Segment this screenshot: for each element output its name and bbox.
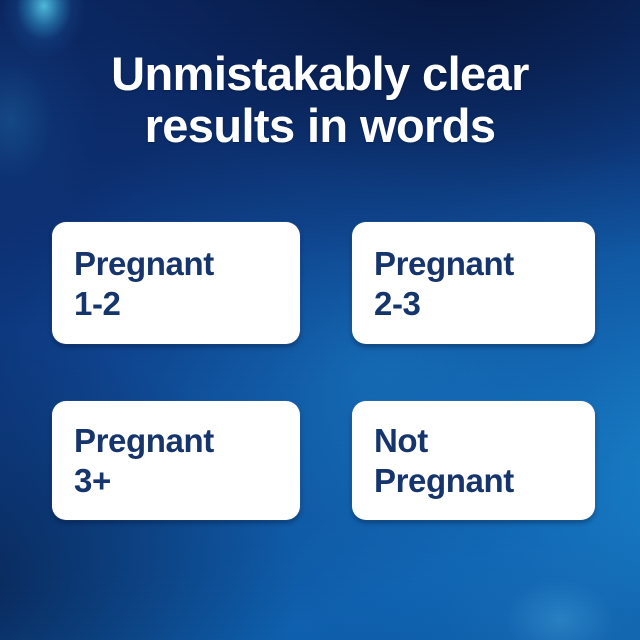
result-card-line-1: Pregnant (74, 421, 278, 460)
result-card-line-2: Pregnant (374, 461, 573, 500)
page-title: Unmistakably clear results in words (0, 48, 640, 152)
result-card-grid: Pregnant 1-2 Pregnant 2-3 Pregnant 3+ No… (52, 222, 595, 520)
result-card-pregnant-2-3: Pregnant 2-3 (352, 222, 595, 344)
result-card-line-1: Pregnant (74, 244, 278, 283)
result-card-pregnant-1-2: Pregnant 1-2 (52, 222, 300, 344)
result-card-pregnant-3-plus: Pregnant 3+ (52, 401, 300, 520)
result-card-line-2: 2-3 (374, 284, 573, 323)
result-card-line-1: Not (374, 421, 573, 460)
result-card-line-2: 3+ (74, 461, 278, 500)
result-card-not-pregnant: Not Pregnant (352, 401, 595, 520)
result-card-line-1: Pregnant (374, 244, 573, 283)
promo-banner: Unmistakably clear results in words Preg… (0, 0, 640, 640)
result-card-line-2: 1-2 (74, 284, 278, 323)
